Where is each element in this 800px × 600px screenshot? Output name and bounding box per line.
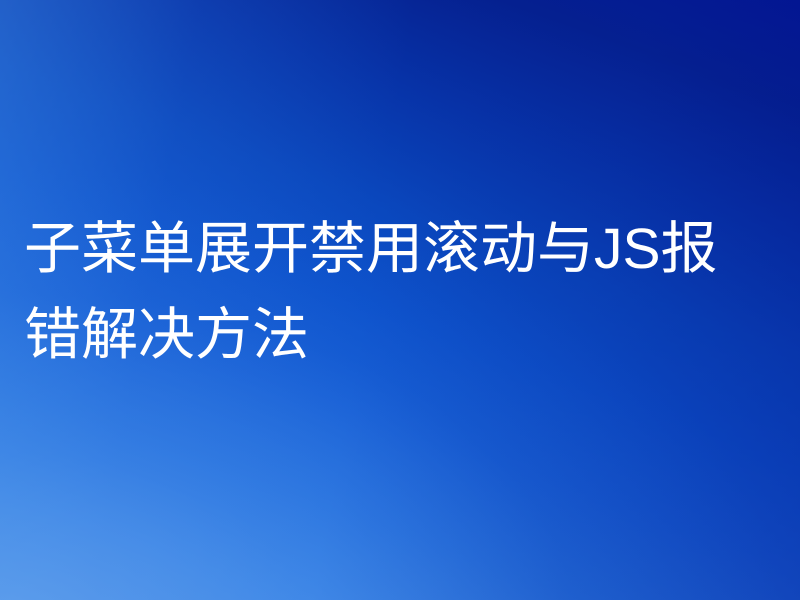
page-title: 子菜单展开禁用滚动与JS报 错解决方法: [24, 206, 776, 378]
page-title-line-1: 子菜单展开禁用滚动与JS报: [24, 206, 776, 292]
title-card: 子菜单展开禁用滚动与JS报 错解决方法: [0, 0, 800, 600]
page-title-line-2: 错解决方法: [24, 292, 776, 378]
